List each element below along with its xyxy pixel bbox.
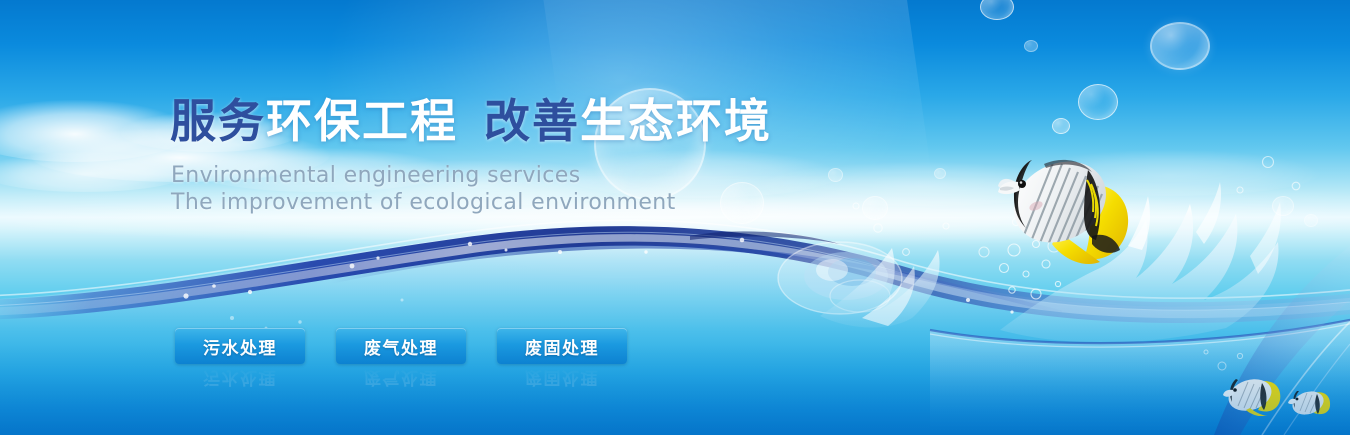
service-button-group-wastegas: 废气处理 废气处理 [336, 328, 466, 395]
service-buttons: 污水处理 污水处理 废气处理 废气处理 废固处理 废固处理 [175, 328, 627, 395]
bubble-shape [828, 168, 843, 182]
butterflyfish-small-icon [1222, 372, 1284, 416]
cloud-shape [760, 162, 1080, 206]
page-title: 服务环保工程改善生态环境 [170, 98, 772, 144]
bubble-shape [934, 168, 946, 179]
hero-banner: 服务环保工程改善生态环境 Environmental engineering s… [0, 0, 1350, 435]
waste-gas-treatment-button[interactable]: 废气处理 [336, 328, 466, 364]
solid-waste-treatment-button[interactable]: 废固处理 [497, 328, 627, 364]
service-button-group-solidwaste: 废固处理 废固处理 [497, 328, 627, 395]
solid-waste-treatment-reflection: 废固处理 [497, 365, 627, 395]
cloud-shape [0, 152, 190, 192]
subtitle-line-2: The improvement of ecological environmen… [171, 190, 676, 215]
headline-segment-2: 环保工程 [266, 94, 458, 148]
wastewater-treatment-button[interactable]: 污水处理 [175, 328, 305, 364]
service-button-group-wastewater: 污水处理 污水处理 [175, 328, 305, 395]
bubble-shape [1078, 84, 1118, 120]
bubble-shape [862, 196, 888, 220]
headline-segment-4: 生态环境 [580, 94, 772, 148]
headline-segment-1: 服务 [170, 94, 266, 148]
wastewater-treatment-label: 污水处理 [203, 334, 277, 359]
cloud-shape [0, 100, 190, 162]
butterflyfish-icon [988, 140, 1138, 270]
water-droplets [992, 236, 1082, 306]
waste-gas-treatment-label: 废气处理 [364, 334, 438, 359]
headline-segment-3: 改善 [484, 94, 580, 148]
waste-gas-treatment-reflection: 废气处理 [336, 365, 466, 395]
bubble-shape [1272, 196, 1294, 216]
subtitle-line-1: Environmental engineering services [171, 163, 581, 188]
bubble-shape [980, 0, 1014, 20]
cloud-shape [1020, 150, 1320, 196]
wastewater-treatment-reflection: 污水处理 [175, 365, 305, 395]
bubble-shape [1052, 118, 1070, 134]
solid-waste-treatment-label: 废固处理 [525, 334, 599, 359]
butterflyfish-tiny-icon [1288, 386, 1332, 418]
bubble-shape [1304, 214, 1318, 227]
bubble-shape [1150, 22, 1210, 70]
bubble-shape [1024, 40, 1038, 52]
bubble-shape [720, 182, 764, 224]
